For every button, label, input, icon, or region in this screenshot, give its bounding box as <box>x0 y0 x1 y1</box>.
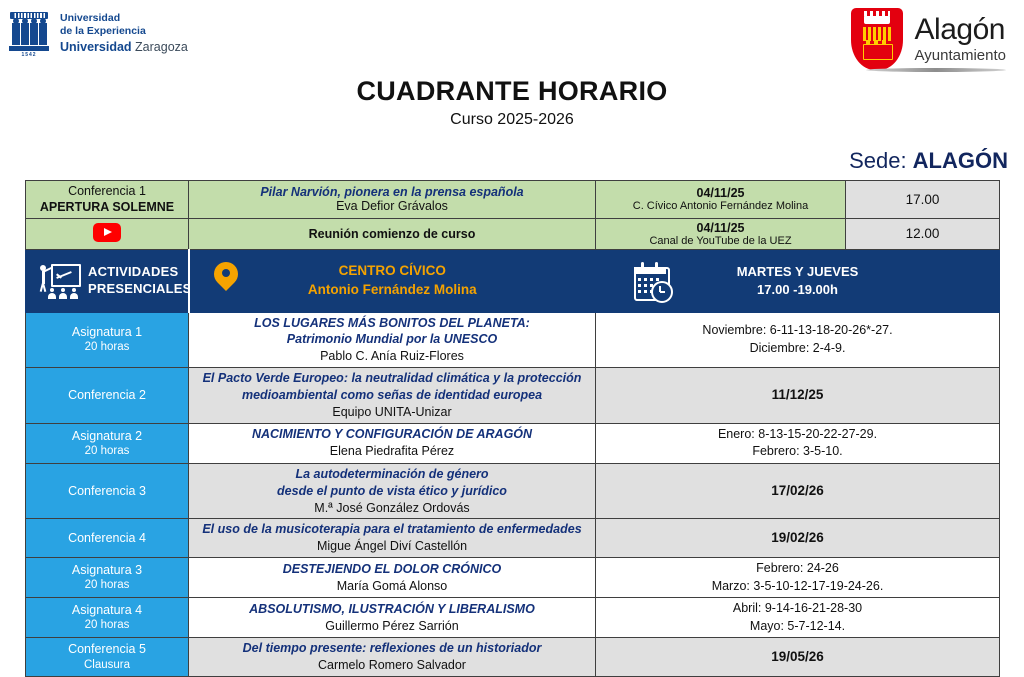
row-label-line1: Conferencia 2 <box>30 387 184 403</box>
row-place: Canal de YouTube de la UEZ <box>600 235 841 247</box>
row-title-line: desde el punto de vista ético y jurídico <box>193 483 591 500</box>
row-label-line1: Conferencia 1 <box>30 183 184 199</box>
calendar-clock-icon <box>634 261 672 301</box>
row-speaker: Elena Piedrafita Pérez <box>193 443 591 460</box>
centro-civico-cell: CENTRO CÍVICO Antonio Fernández Molina <box>189 249 596 312</box>
row-date-cell: 19/02/26 <box>596 519 1000 558</box>
row-date-line: Enero: 8-13-15-20-22-27-29. <box>600 426 995 444</box>
actividades-label-line2: PRESENCIALES <box>88 281 192 297</box>
row-label-cell: Conferencia 2 <box>26 368 189 424</box>
row-label-line2: APERTURA SOLEMNE <box>30 199 184 215</box>
alagon-logo-swoosh <box>866 68 1006 72</box>
row-title-line: Del tiempo presente: reflexiones de un h… <box>193 640 591 657</box>
row-label-line1: Asignatura 3 <box>30 562 184 578</box>
row-label-cell: Conferencia 3 <box>26 463 189 519</box>
horario-cell: MARTES Y JUEVES 17.00 -19.00h <box>596 249 1000 312</box>
row-date-line: Mayo: 5-7-12-14. <box>600 618 995 636</box>
title-block: CUADRANTE HORARIO Curso 2025-2026 <box>0 76 1024 129</box>
row-date-line: Febrero: 24-26 <box>600 560 995 578</box>
row-label-line2: 20 horas <box>30 444 184 459</box>
section-header-row: ACTIVIDADES PRESENCIALES CENTRO CÍVICO A… <box>26 249 1000 312</box>
row-date-cell: 04/11/25 C. Cívico Antonio Fernández Mol… <box>596 181 846 219</box>
row-label-cell: Asignatura 220 horas <box>26 423 189 463</box>
row-date: 04/11/25 <box>600 186 841 200</box>
row-date-line: 11/12/25 <box>600 386 995 405</box>
row-title-cell: NACIMIENTO Y CONFIGURACIÓN DE ARAGÓNElen… <box>189 423 596 463</box>
row-date-line: Febrero: 3-5-10. <box>600 443 995 461</box>
row-date-line: 19/05/26 <box>600 648 995 667</box>
uez-line-2: de la Experiencia <box>60 25 188 38</box>
row-date-line: 17/02/26 <box>600 482 995 501</box>
row-date-cell: 17/02/26 <box>596 463 1000 519</box>
centro-civico-line1: CENTRO CÍVICO <box>194 262 592 280</box>
actividades-presenciales-cell: ACTIVIDADES PRESENCIALES <box>26 249 189 312</box>
row-label-cell: Conferencia 1 APERTURA SOLEMNE <box>26 181 189 219</box>
row-date-line: Marzo: 3-5-10-12-17-19-24-26. <box>600 578 995 596</box>
table-row: Asignatura 420 horasABSOLUTISMO, ILUSTRA… <box>26 598 1000 638</box>
youtube-icon[interactable] <box>93 223 121 242</box>
table-row: Conferencia 2El Pacto Verde Europeo: la … <box>26 368 1000 424</box>
row-date-cell: 11/12/25 <box>596 368 1000 424</box>
row-title-cell: La autodeterminación de génerodesde el p… <box>189 463 596 519</box>
actividades-label-line1: ACTIVIDADES <box>88 264 192 280</box>
row-date-cell: Enero: 8-13-15-20-22-27-29.Febrero: 3-5-… <box>596 423 1000 463</box>
centro-civico-line2: Antonio Fernández Molina <box>194 281 592 299</box>
row-label-line1: Conferencia 4 <box>30 530 184 546</box>
row-label-line2: 20 horas <box>30 340 184 355</box>
row-speaker: Equipo UNITA-Unizar <box>193 404 591 421</box>
row-label-cell: Conferencia 5Clausura <box>26 638 189 677</box>
presentation-icon <box>34 261 80 301</box>
table-row: Conferencia 5ClausuraDel tiempo presente… <box>26 638 1000 677</box>
row-title-cell: LOS LUGARES MÁS BONITOS DEL PLANETA:Patr… <box>189 312 596 368</box>
row-title-line: Patrimonio Mundial por la UNESCO <box>193 331 591 348</box>
row-label-cell: Asignatura 120 horas <box>26 312 189 368</box>
row-title-line: LOS LUGARES MÁS BONITOS DEL PLANETA: <box>193 315 591 332</box>
row-label-line1: Asignatura 4 <box>30 602 184 618</box>
row-date-cell: 04/11/25 Canal de YouTube de la UEZ <box>596 218 846 249</box>
row-speaker: Eva Defior Grávalos <box>193 199 591 213</box>
row-title-line: medioambiental como señas de identidad e… <box>193 387 591 404</box>
row-title-line: ABSOLUTISMO, ILUSTRACIÓN Y LIBERALISMO <box>193 601 591 618</box>
row-speaker: Carmelo Romero Salvador <box>193 657 591 674</box>
row-label-cell <box>26 218 189 249</box>
row-label-line2: 20 horas <box>30 618 184 633</box>
row-speaker: Pablo C. Anía Ruiz-Flores <box>193 348 591 365</box>
table-row: Asignatura 220 horasNACIMIENTO Y CONFIGU… <box>26 423 1000 463</box>
sede-line: Sede: ALAGÓN <box>849 148 1008 174</box>
row-label-line1: Conferencia 5 <box>30 641 184 657</box>
table-row: Reunión comienzo de curso 04/11/25 Canal… <box>26 218 1000 249</box>
row-title-cell: Pilar Narvión, pionera en la prensa espa… <box>189 181 596 219</box>
table-row: Asignatura 320 horasDESTEJIENDO EL DOLOR… <box>26 558 1000 598</box>
sede-value: ALAGÓN <box>913 148 1008 173</box>
row-title: Pilar Narvión, pionera en la prensa espa… <box>193 185 591 199</box>
university-building-icon: 1542 <box>8 10 50 58</box>
alagon-logo-subtitle: Ayuntamiento <box>915 48 1006 63</box>
row-title-cell: Del tiempo presente: reflexiones de un h… <box>189 638 596 677</box>
row-speaker: Guillermo Pérez Sarrión <box>193 618 591 635</box>
row-title: Reunión comienzo de curso <box>193 227 591 241</box>
row-time-cell: 12.00 <box>846 218 1000 249</box>
row-label-cell: Conferencia 4 <box>26 519 189 558</box>
table-row: Conferencia 1 APERTURA SOLEMNE Pilar Nar… <box>26 181 1000 219</box>
row-speaker: Migue Ángel Diví Castellón <box>193 538 591 555</box>
row-label-line2: 20 horas <box>30 578 184 593</box>
uez-universidad-word: Universidad <box>60 40 132 54</box>
row-title-cell: El uso de la musicoterapia para el trata… <box>189 519 596 558</box>
table-row: Conferencia 3La autodeterminación de gén… <box>26 463 1000 519</box>
row-label-cell: Asignatura 420 horas <box>26 598 189 638</box>
row-date-line: Noviembre: 6-11-13-18-20-26*-27. <box>600 322 995 340</box>
row-date-cell: Abril: 9-14-16-21-28-30Mayo: 5-7-12-14. <box>596 598 1000 638</box>
row-label-line2: Clausura <box>30 658 184 673</box>
row-speaker: M.ª José González Ordovás <box>193 500 591 517</box>
alagon-ayuntamiento-logo: Alagón Ayuntamiento <box>851 8 1006 70</box>
table-row: Conferencia 4El uso de la musicoterapia … <box>26 519 1000 558</box>
row-title-cell: DESTEJIENDO EL DOLOR CRÓNICOMaría Gomá A… <box>189 558 596 598</box>
universidad-zaragoza-logo: 1542 Universidad de la Experiencia Unive… <box>8 10 188 58</box>
row-label-line1: Asignatura 1 <box>30 324 184 340</box>
row-date-cell: 19/05/26 <box>596 638 1000 677</box>
row-date-cell: Noviembre: 6-11-13-18-20-26*-27.Diciembr… <box>596 312 1000 368</box>
page-subtitle: Curso 2025-2026 <box>0 111 1024 129</box>
row-place: C. Cívico Antonio Fernández Molina <box>600 200 841 212</box>
row-date-line: 19/02/26 <box>600 529 995 548</box>
row-label-cell: Asignatura 320 horas <box>26 558 189 598</box>
page-title: CUADRANTE HORARIO <box>0 76 1024 107</box>
location-pin-icon <box>214 262 238 296</box>
uez-zaragoza-word: Zaragoza <box>132 40 188 54</box>
alagon-logo-name: Alagón <box>915 15 1006 45</box>
row-title-cell: ABSOLUTISMO, ILUSTRACIÓN Y LIBERALISMOGu… <box>189 598 596 638</box>
sede-prefix: Sede: <box>849 148 913 173</box>
schedule-table: Conferencia 1 APERTURA SOLEMNE Pilar Nar… <box>25 180 1000 677</box>
row-date-line: Diciembre: 2-4-9. <box>600 340 995 358</box>
table-row: Asignatura 120 horasLOS LUGARES MÁS BONI… <box>26 312 1000 368</box>
row-title-cell: Reunión comienzo de curso <box>189 218 596 249</box>
row-title-line: El uso de la musicoterapia para el trata… <box>193 521 591 538</box>
university-founding-year: 1542 <box>8 52 50 58</box>
row-date-cell: Febrero: 24-26Marzo: 3-5-10-12-17-19-24-… <box>596 558 1000 598</box>
row-date-line: Abril: 9-14-16-21-28-30 <box>600 600 995 618</box>
row-title-line: DESTEJIENDO EL DOLOR CRÓNICO <box>193 561 591 578</box>
row-date: 04/11/25 <box>600 221 841 235</box>
page-header: 1542 Universidad de la Experiencia Unive… <box>0 0 1024 78</box>
alagon-shield-icon <box>851 8 903 70</box>
row-title-line: El Pacto Verde Europeo: la neutralidad c… <box>193 370 591 387</box>
row-time-cell: 17.00 <box>846 181 1000 219</box>
row-title-line: NACIMIENTO Y CONFIGURACIÓN DE ARAGÓN <box>193 426 591 443</box>
row-speaker: María Gomá Alonso <box>193 578 591 595</box>
row-title-line: La autodeterminación de género <box>193 466 591 483</box>
row-title-cell: El Pacto Verde Europeo: la neutralidad c… <box>189 368 596 424</box>
row-label-line1: Conferencia 3 <box>30 483 184 499</box>
uez-line-1: Universidad <box>60 12 188 25</box>
row-label-line1: Asignatura 2 <box>30 428 184 444</box>
